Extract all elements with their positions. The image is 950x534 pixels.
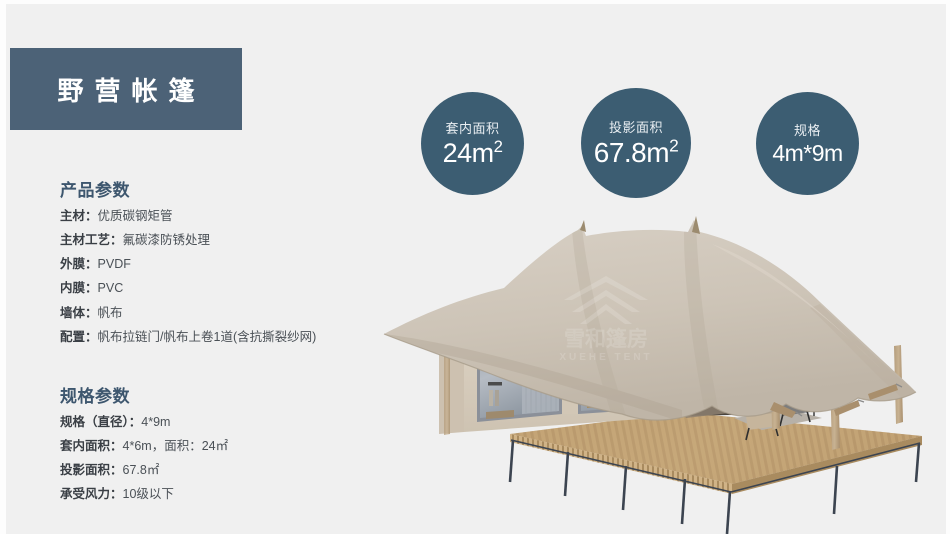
- badge-value: 24m2: [443, 138, 503, 169]
- badge-value: 67.8m2: [594, 137, 678, 169]
- param-row: 配置：帆布拉链门/帆布上卷1道(含抗撕裂纱网): [60, 331, 400, 344]
- param-row: 套内面积：4*6m，面积：24㎡: [60, 440, 400, 453]
- badge-label: 投影面积: [609, 117, 663, 136]
- param-row: 承受风力：10级以下: [60, 488, 400, 501]
- param-key: 主材工艺：: [60, 233, 123, 247]
- param-key: 套内面积：: [60, 439, 123, 453]
- product-params-section: 产品参数 主材：优质碳钢矩管 主材工艺：氟碳漆防锈处理 外膜：PVDF 内膜：P…: [60, 176, 400, 355]
- param-key: 内膜：: [60, 281, 98, 295]
- badge-value: 4m*9m: [772, 140, 842, 167]
- param-key: 主材：: [60, 209, 98, 223]
- param-row: 规格（直径）：4*9m: [60, 416, 400, 429]
- param-key: 承受风力：: [60, 487, 123, 501]
- param-value: 10级以下: [123, 487, 174, 501]
- size-params-section: 规格参数 规格（直径）：4*9m 套内面积：4*6m，面积：24㎡ 投影面积：6…: [60, 382, 400, 513]
- title-banner: 野营帐篷: [10, 48, 242, 130]
- param-row: 主材工艺：氟碳漆防锈处理: [60, 234, 400, 247]
- badge-interior-area: 套内面积 24m2: [421, 92, 524, 195]
- param-key: 配置：: [60, 330, 98, 344]
- badge-projected-area: 投影面积 67.8m2: [581, 88, 691, 198]
- param-value: PVC: [98, 281, 124, 295]
- page-root: 野营帐篷 套内面积 24m2 投影面积 67.8m2 规格 4m*9m 产品参数…: [0, 0, 950, 534]
- param-row: 外膜：PVDF: [60, 258, 400, 271]
- param-row: 投影面积：67.8㎡: [60, 464, 400, 477]
- product-params-heading: 产品参数: [60, 176, 400, 201]
- watermark-text: 雪和篷房: [564, 327, 648, 351]
- tent-product-image: 雪和篷房 XUEHE TENT: [382, 184, 950, 534]
- param-key: 外膜：: [60, 257, 98, 271]
- param-key: 墙体：: [60, 306, 98, 320]
- param-row: 主材：优质碳钢矩管: [60, 210, 400, 223]
- param-value: 4*9m: [141, 415, 170, 429]
- param-row: 墙体：帆布: [60, 307, 400, 320]
- param-value: 帆布拉链门/帆布上卷1道(含抗撕裂纱网): [98, 330, 317, 344]
- canopy-peak-left: [580, 220, 586, 232]
- badge-label: 套内面积: [445, 118, 499, 137]
- param-row: 内膜：PVC: [60, 282, 400, 295]
- badge-dimensions: 规格 4m*9m: [756, 92, 859, 195]
- param-value: 67.8㎡: [123, 463, 160, 477]
- size-params-heading: 规格参数: [60, 382, 400, 407]
- watermark-subtext: XUEHE TENT: [559, 352, 652, 363]
- badge-label: 规格: [794, 120, 821, 139]
- param-value: 4*6m，面积：24㎡: [123, 439, 229, 453]
- param-value: PVDF: [98, 257, 131, 271]
- param-key: 规格（直径）：: [60, 415, 141, 429]
- param-value: 氟碳漆防锈处理: [123, 233, 211, 247]
- page-title: 野营帐篷: [46, 71, 205, 108]
- param-value: 优质碳钢矩管: [98, 209, 173, 223]
- param-key: 投影面积：: [60, 463, 123, 477]
- param-value: 帆布: [98, 306, 123, 320]
